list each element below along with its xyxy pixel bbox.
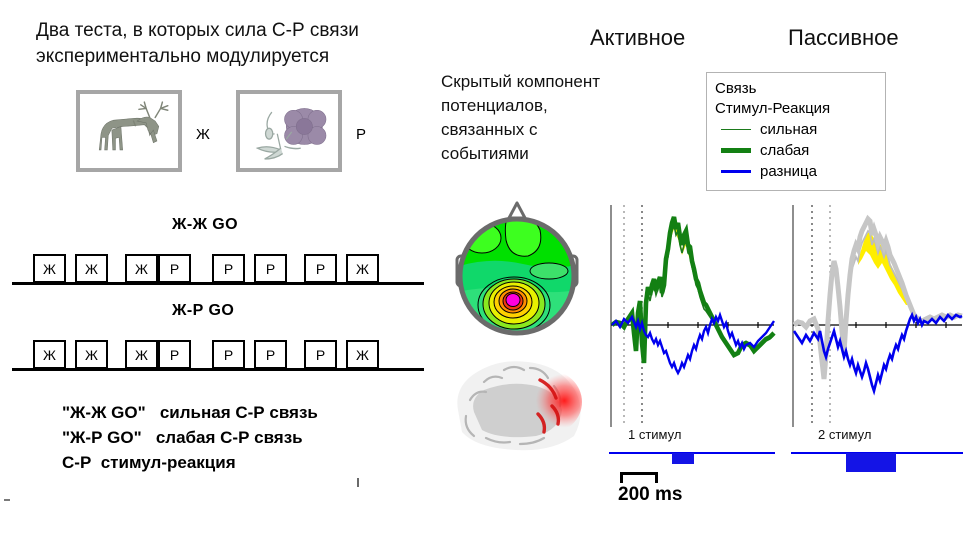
scale-bar	[620, 472, 658, 483]
trace-weak-active	[612, 217, 774, 363]
sequence-box: Ж	[33, 340, 66, 369]
erp-plot-passive	[790, 205, 965, 430]
stimulus-label-2: 2 стимул	[818, 427, 871, 442]
erp-caption: Скрытый компонент потенциалов, связанных…	[441, 70, 616, 166]
sequence-box: Ж	[33, 254, 66, 283]
sequence-box: Р	[254, 340, 287, 369]
sequence-box: Ж	[75, 340, 108, 369]
sequence-box: Ж	[346, 340, 379, 369]
sequence-box: Р	[304, 254, 337, 283]
summary-text: "Ж-Ж GO" сильная С-Р связь "Ж-Р GO" слаб…	[62, 400, 318, 475]
scale-bar-label: 200 ms	[618, 484, 682, 506]
sequence-box: Р	[254, 254, 287, 283]
flower-image	[236, 90, 342, 172]
erp-plot-active	[608, 205, 776, 430]
legend-label: разница	[760, 163, 817, 180]
sequence-box: Ж	[125, 340, 158, 369]
sequence-box: Ж	[346, 254, 379, 283]
sequence-box: Р	[158, 340, 191, 369]
moose-image	[76, 90, 182, 172]
topo-svg	[448, 198, 586, 346]
legend-title-line1: Связь	[715, 79, 885, 99]
stray-mark	[4, 499, 10, 501]
legend-entry: разница	[715, 161, 885, 182]
legend-label: сильная	[760, 121, 817, 138]
sequence-row-1: ЖЖЖРРРРЖ	[12, 249, 424, 285]
sequence-box: Р	[158, 254, 191, 283]
page-title: Два теста, в которых сила С-Р связи эксп…	[36, 18, 426, 70]
legend-swatch-icon	[721, 170, 751, 173]
sequence-row-2: ЖЖЖРРРРЖ	[12, 335, 424, 371]
stimulus-block-1	[672, 453, 694, 464]
brain-svg	[440, 352, 590, 452]
moose-icon	[80, 94, 178, 168]
sequence-box: Р	[212, 254, 245, 283]
stimulus-label-moose: Ж	[196, 126, 210, 143]
sequence-title-2: Ж-Р GO	[172, 302, 234, 320]
legend-entry: сильная	[715, 119, 885, 140]
column-header-passive: Пассивное	[788, 25, 899, 51]
sequence-box: Р	[212, 340, 245, 369]
stimulus-label-1: 1 стимул	[628, 427, 681, 442]
column-header-active: Активное	[590, 25, 685, 51]
erp-svg-passive	[790, 205, 965, 430]
trace-weak-passive	[794, 219, 962, 379]
legend-entry: слабая	[715, 140, 885, 161]
sequence-title-1: Ж-Ж GO	[172, 216, 238, 234]
legend-label: слабая	[760, 142, 809, 159]
sequence-box: Ж	[75, 254, 108, 283]
sequence-box: Р	[304, 340, 337, 369]
legend-box: Связь Стимул-Реакция сильнаяслабаяразниц…	[706, 72, 886, 191]
erp-svg-active	[608, 205, 776, 430]
legend-swatch-icon	[721, 129, 751, 130]
stray-mark	[357, 478, 359, 487]
legend-entries: сильнаяслабаяразница	[715, 119, 885, 182]
stimulus-label-flower: Р	[356, 126, 366, 143]
topographic-head-map	[448, 198, 586, 346]
legend-title-line2: Стимул-Реакция	[715, 99, 885, 119]
flower-icon	[240, 94, 338, 168]
stimulus-block-2	[846, 453, 896, 472]
legend-swatch-icon	[721, 148, 751, 153]
sequence-box: Ж	[125, 254, 158, 283]
brain-slice-image	[440, 352, 590, 452]
